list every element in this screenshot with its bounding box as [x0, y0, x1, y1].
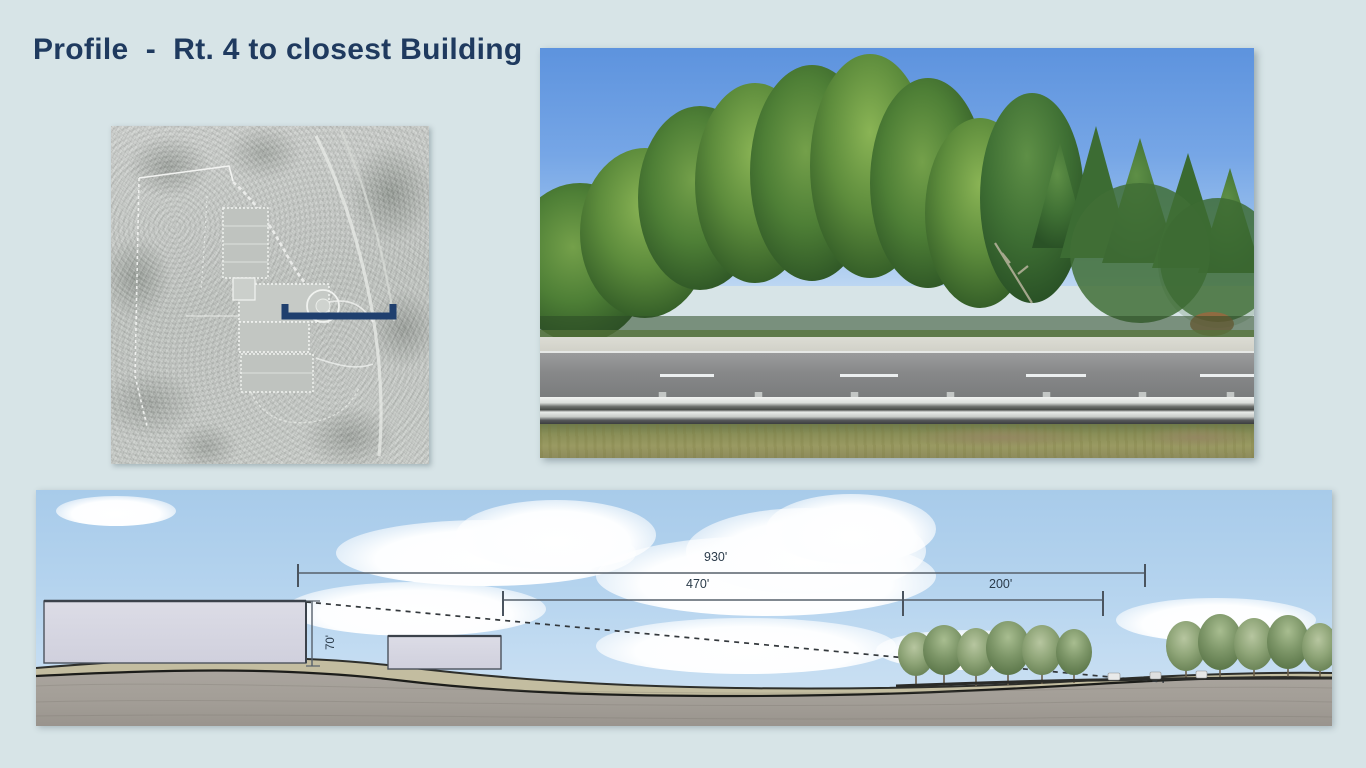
dimension-label-930: 930' — [704, 550, 727, 564]
dimension-label-200: 200' — [989, 577, 1012, 591]
profile-linework — [36, 490, 1332, 726]
photo-lane-marking — [1200, 374, 1254, 377]
dimension-label-70: 70' — [325, 635, 337, 650]
dimension-label-470: 470' — [686, 577, 709, 591]
profile-tree-group — [898, 621, 1092, 686]
profile-tree-group-right — [1166, 614, 1332, 680]
site-aerial-photo — [111, 126, 429, 464]
photo-lane-marking — [1026, 374, 1086, 377]
roadside-photograph — [540, 48, 1254, 458]
photo-lane-marking — [660, 374, 714, 377]
photo-lane-marking — [840, 374, 898, 377]
photo-dirt-patch — [1140, 427, 1254, 448]
photo-guardrail — [540, 397, 1254, 426]
section-line-bracket — [111, 126, 429, 464]
photo-dirt-patch — [910, 427, 1090, 448]
cross-section-profile: 930' 470' 200' 70' — [36, 490, 1332, 726]
page-title: Profile - Rt. 4 to closest Building — [33, 33, 522, 67]
